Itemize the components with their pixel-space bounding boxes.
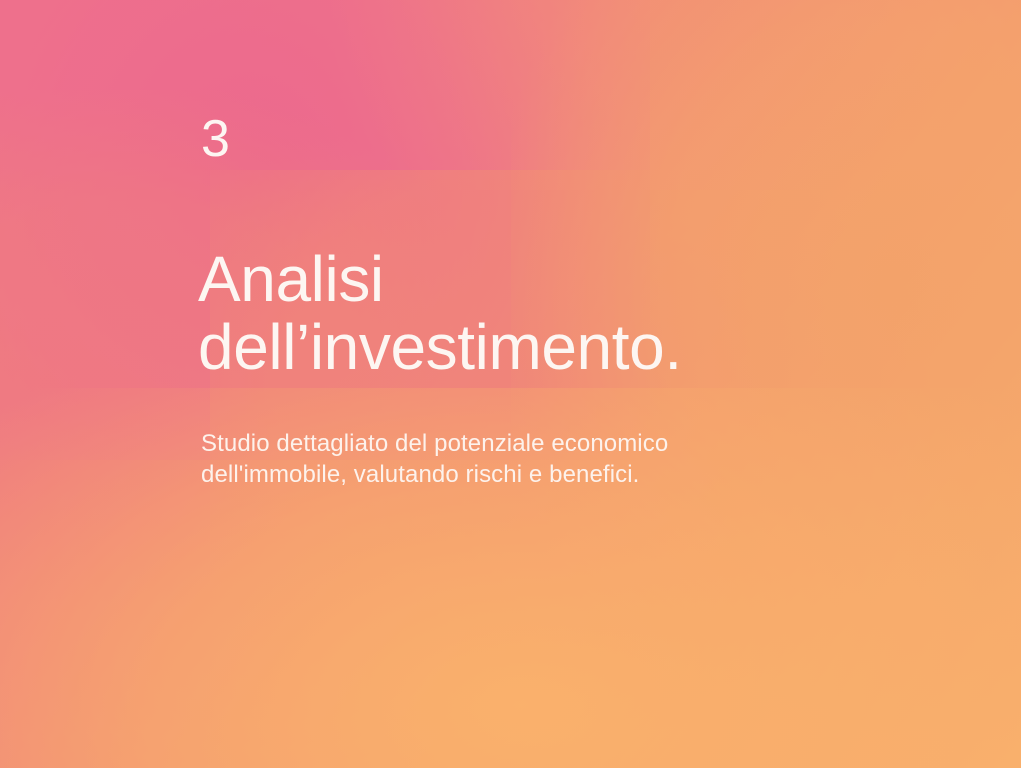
slide-subtitle: Studio dettagliato del potenziale econom… <box>201 428 821 490</box>
presentation-slide: 3 Analisi dell’investimento. Studio dett… <box>0 0 1021 768</box>
section-number: 3 <box>201 108 230 170</box>
slide-text-column: 3 Analisi dell’investimento. Studio dett… <box>201 0 941 768</box>
page-title: Analisi dell’investimento. <box>198 245 682 381</box>
